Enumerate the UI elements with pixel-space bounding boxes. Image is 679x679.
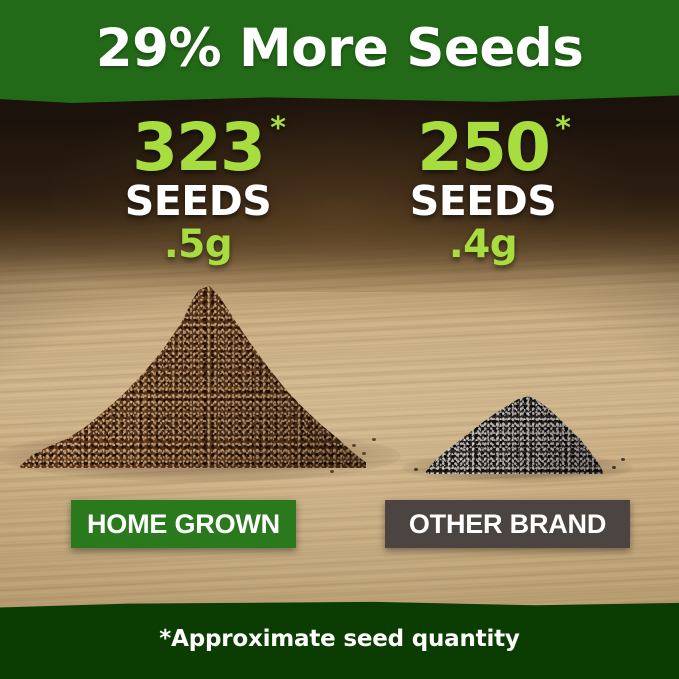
stray-seed xyxy=(414,468,418,471)
seed-count-home-grown: 323* xyxy=(132,116,264,179)
seed-weight-other-brand: .4g xyxy=(343,225,623,264)
stray-seed xyxy=(341,459,345,462)
footnote-text: *Approximate seed quantity xyxy=(0,626,679,652)
label-plate-home-grown: HOME GROWN xyxy=(71,500,296,548)
stray-seed xyxy=(362,452,366,455)
seed-unit-label-home-grown: SEEDS xyxy=(58,181,338,222)
stray-seed xyxy=(612,466,616,469)
seed-unit-label-other-brand: SEEDS xyxy=(343,181,623,222)
label-plate-other-brand: OTHER BRAND xyxy=(385,500,630,548)
stat-block-other-brand: 250* SEEDS .4g xyxy=(343,116,623,264)
seed-count-other-brand: 250* xyxy=(417,116,549,179)
seed-count-value: 250 xyxy=(417,109,549,186)
page-title: 29% More Seeds xyxy=(0,22,679,75)
stray-seed xyxy=(372,438,376,441)
stray-seed xyxy=(621,458,625,461)
seed-weight-home-grown: .5g xyxy=(58,225,338,264)
footnote-asterisk: * xyxy=(270,114,284,144)
stat-block-home-grown: 323* SEEDS .5g xyxy=(58,116,338,264)
footnote-asterisk: * xyxy=(555,114,569,144)
stray-seed xyxy=(330,470,334,473)
stray-seed xyxy=(352,444,356,447)
infographic-poster: 29% More Seeds 323* SEEDS .5g 250* SEEDS… xyxy=(0,0,679,679)
seed-count-value: 323 xyxy=(132,109,264,186)
